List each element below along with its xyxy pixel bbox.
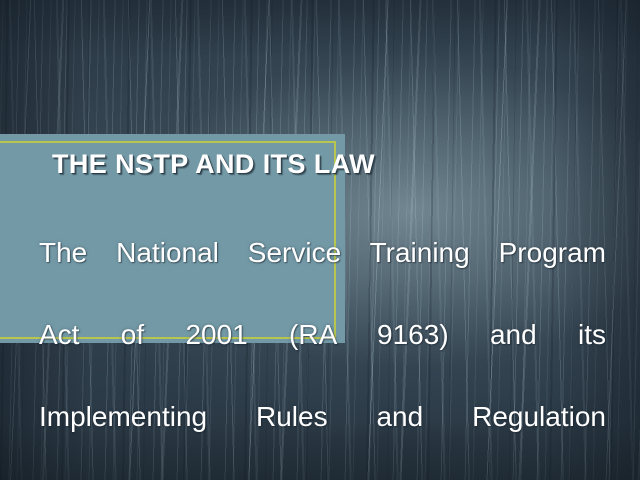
slide-body-text: The National Service Training Program Ac…	[39, 232, 606, 480]
slide-title: THE NSTP AND ITS LAW	[52, 147, 472, 181]
body-line: Act of 2001 (RA 9163) and its	[39, 314, 606, 396]
body-line: Implementing Rules and Regulation	[39, 396, 606, 478]
presentation-slide: THE NSTP AND ITS LAW The National Servic…	[0, 0, 640, 480]
body-line: The National Service Training Program	[39, 232, 606, 314]
